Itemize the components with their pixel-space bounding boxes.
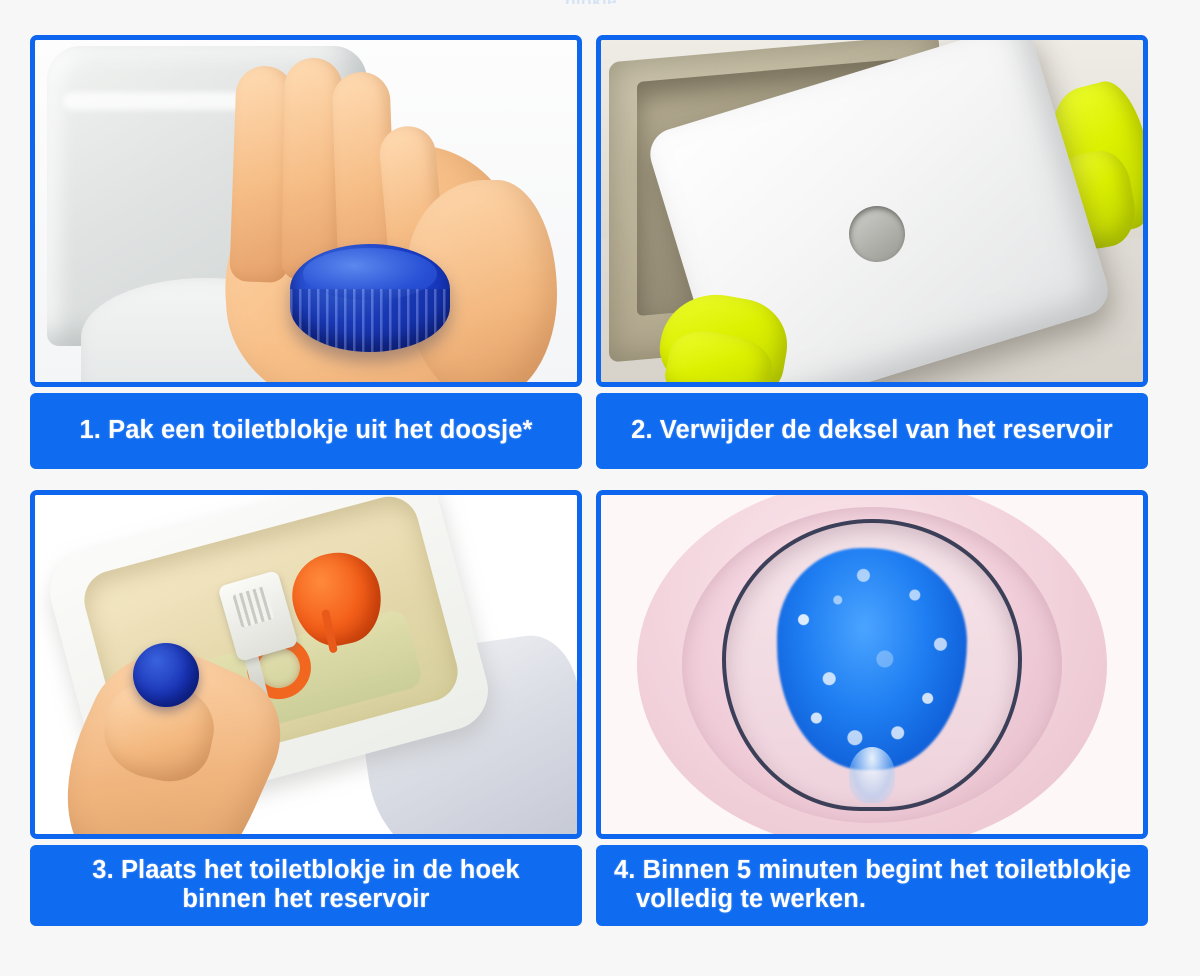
step-card-4: 4. Binnen 5 minuten begint het toiletblo… — [596, 490, 1148, 926]
clipped-top-text: blokje — [565, 0, 685, 4]
step-4-photo-frame — [596, 490, 1148, 839]
step-4-caption: 4. Binnen 5 minuten begint het toiletblo… — [596, 845, 1148, 926]
blue-toilet-block — [290, 244, 450, 352]
step-4-caption-line2: volledig te werken. — [614, 885, 866, 914]
step-1-photo — [35, 40, 577, 382]
step-3-photo — [35, 495, 577, 834]
step-2-photo-frame — [596, 35, 1148, 387]
step-4-photo — [601, 495, 1143, 834]
step-3-photo-frame — [30, 490, 582, 839]
step-card-2: 2. Verwijder de deksel van het reservoir — [596, 35, 1148, 471]
step-2-photo — [601, 40, 1143, 382]
foam-bubbles — [765, 536, 979, 782]
water-drip — [849, 747, 895, 803]
step-3-caption-line2: binnen het reservoir — [182, 885, 429, 914]
clipped-top-text-label: blokje — [565, 0, 685, 4]
step-1-photo-frame — [30, 35, 582, 387]
toilet-bowl-rim — [722, 519, 1022, 811]
step-3-caption-line1: 3. Plaats het toiletblokje in de hoek — [92, 856, 519, 885]
step-1-caption: 1. Pak een toiletblokje uit het doosje* — [30, 393, 582, 469]
step-card-1: 1. Pak een toiletblokje uit het doosje* — [30, 35, 582, 471]
step-2-caption-line1: 2. Verwijder de deksel van het reservoir — [631, 416, 1113, 445]
step-1-caption-line1: 1. Pak een toiletblokje uit het doosje* — [79, 416, 532, 445]
step-card-3: 3. Plaats het toiletblokje in de hoek bi… — [30, 490, 582, 926]
step-3-caption: 3. Plaats het toiletblokje in de hoek bi… — [30, 845, 582, 926]
blue-toilet-block — [133, 643, 199, 707]
instruction-steps-grid: 1. Pak een toiletblokje uit het doosje* … — [30, 35, 1148, 926]
step-4-caption-line1: 4. Binnen 5 minuten begint het toiletblo… — [614, 856, 1131, 885]
step-2-caption: 2. Verwijder de deksel van het reservoir — [596, 393, 1148, 469]
